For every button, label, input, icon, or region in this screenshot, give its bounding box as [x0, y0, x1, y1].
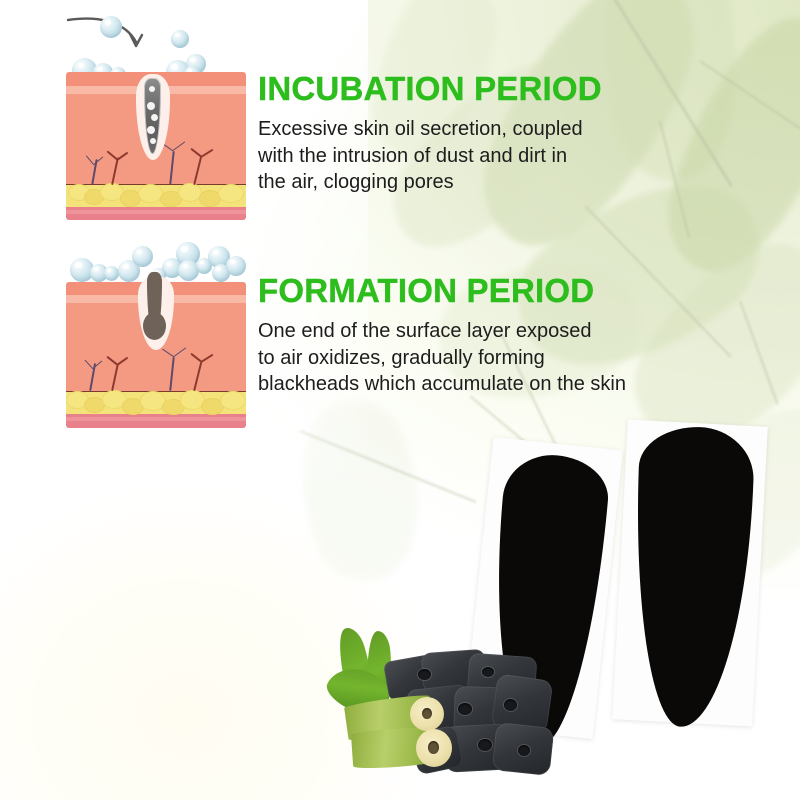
body-incubation-line-1: Excessive skin oil secretion, coupled: [258, 116, 658, 143]
skin-diagram-formation: [66, 236, 246, 428]
bamboo-cut-face: [410, 697, 444, 731]
capillary-vessel: [108, 356, 142, 392]
capillary-vessel: [190, 148, 226, 186]
water-bubble-icon: [171, 30, 189, 48]
body-incubation-line-2: with the intrusion of dust and dirt in: [258, 143, 658, 170]
body-formation-line-2: to air oxidizes, gradually forming: [258, 345, 688, 372]
infographic-canvas: INCUBATION PERIOD Excessive skin oil sec…: [0, 0, 800, 800]
heading-incubation: INCUBATION PERIOD: [258, 72, 658, 105]
body-incubation-line-3: the air, clogging pores: [258, 169, 658, 196]
water-bubble-icon: [132, 246, 153, 267]
blackhead-plug-bulb: [143, 312, 166, 340]
water-bubble-icon: [100, 16, 122, 38]
charcoal-hollow: [482, 667, 494, 677]
water-bubble-icon: [104, 266, 119, 281]
fat-globule: [218, 184, 244, 203]
skin-pore-icon: [136, 74, 170, 160]
section-formation-text: FORMATION PERIOD One end of the surface …: [258, 274, 688, 398]
charcoal-hollow: [478, 739, 492, 751]
blackhead-plug-icon: [138, 272, 174, 350]
skin-diagram-incubation: [66, 8, 246, 220]
capillary-vessel: [190, 354, 226, 392]
body-formation-line-3: blackheads which accumulate on the skin: [258, 371, 688, 398]
charcoal-hollow: [418, 669, 431, 680]
charcoal-hollow: [458, 703, 472, 715]
heading-formation: FORMATION PERIOD: [258, 274, 688, 307]
bamboo-cut-face: [416, 729, 452, 767]
charcoal-hollow: [504, 699, 517, 711]
fat-globule: [220, 391, 246, 410]
water-bubble-icon: [226, 256, 246, 276]
skin-layer-muscle-highlight: [66, 210, 246, 214]
charcoal-hollow: [518, 745, 530, 756]
ingredient-bamboo-charcoal: [318, 625, 558, 800]
skin-layer-muscle-highlight: [66, 417, 246, 421]
body-formation-line-1: One end of the surface layer exposed: [258, 318, 688, 345]
section-incubation-text: INCUBATION PERIOD Excessive skin oil sec…: [258, 72, 658, 196]
